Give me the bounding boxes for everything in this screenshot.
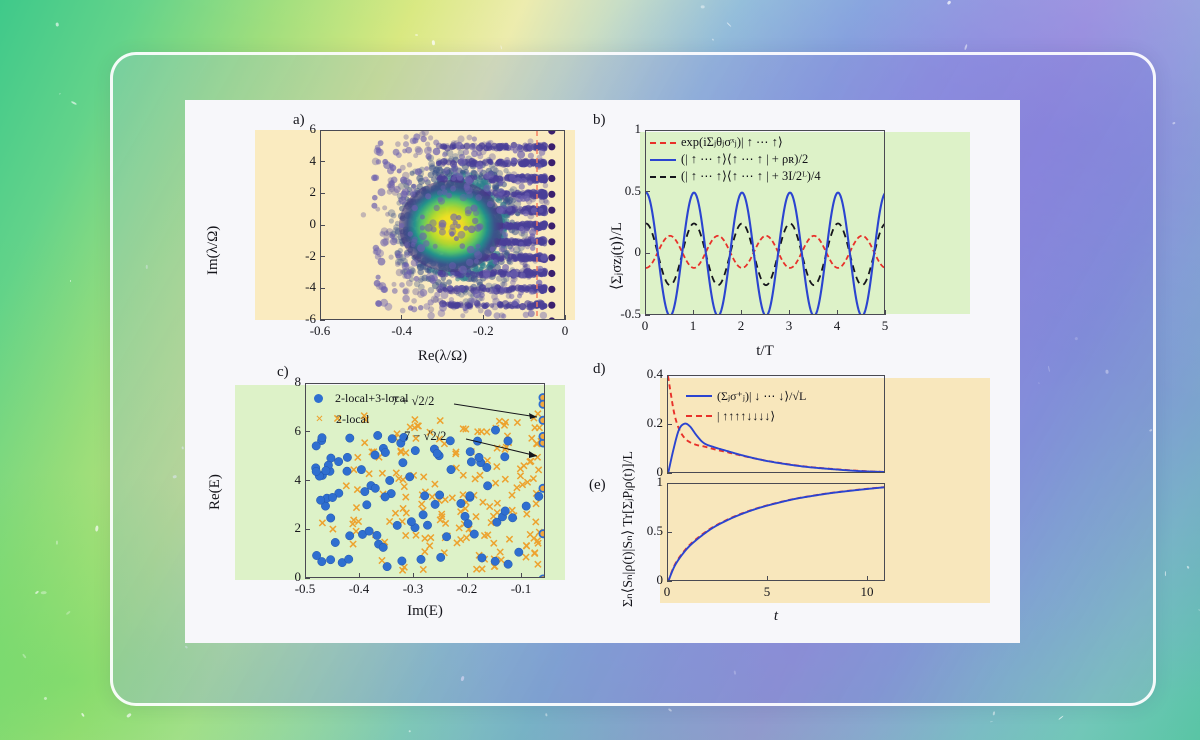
screenshot-root: a) Im(λ/Ω) [0, 0, 1200, 740]
panel-e-lines [668, 484, 884, 580]
tick-mark [320, 288, 325, 289]
tick-mark [305, 578, 310, 579]
y-tick-label: 2 [276, 184, 316, 200]
panel-d-label: d) [593, 361, 606, 378]
speckle [409, 730, 411, 732]
tick-mark [789, 310, 790, 315]
x-tick-label: 10 [843, 584, 891, 600]
tick-mark [767, 576, 768, 581]
panel-c-ylabel: Re(E) [207, 474, 224, 510]
tick-mark [320, 225, 325, 226]
panel-d-plotbox: (Σⱼσ⁺ⱼ)| ↓ ⋯ ↓⟩/√L | ↑↑↑↑↓↓↓↓⟩ [667, 375, 885, 473]
tick-mark [645, 191, 650, 192]
tick-mark [305, 431, 310, 432]
y-tick-label: -6 [276, 311, 316, 327]
panel-b: b) ⟨Σⱼσᴢⱼ(t)⟩/L exp(iΣⱼθⱼσˣⱼ)| ↑ ⋯ ↑⟩ [585, 100, 1020, 350]
panel-c-annotation-1: 7 − √2/2 [404, 429, 446, 444]
tick-mark [645, 130, 650, 131]
y-tick-label: -2 [276, 248, 316, 264]
y-tick-label: -4 [276, 279, 316, 295]
x-tick-label: 1 [669, 318, 717, 334]
panel-e-label: (e) [589, 477, 606, 494]
tick-mark [413, 573, 414, 578]
panel-e-plotbox [667, 483, 885, 581]
tick-mark [693, 310, 694, 315]
speckle [701, 5, 705, 8]
tick-mark [667, 375, 672, 376]
y-tick-label: 0.2 [623, 415, 663, 431]
panel-c-legend-item-1: × 2-local [314, 409, 408, 430]
y-tick-label: 1 [623, 474, 663, 490]
tick-mark [667, 483, 672, 484]
tick-mark [667, 532, 672, 533]
tick-mark [885, 310, 886, 315]
y-tick-label: 0.5 [623, 523, 663, 539]
x-tick-label: 5 [743, 584, 791, 600]
x-tick-label: 2 [717, 318, 765, 334]
tick-mark [667, 581, 672, 582]
y-tick-label: 2 [261, 520, 301, 536]
red-dashed-swatch-d [686, 415, 712, 417]
y-tick-label: 8 [261, 374, 301, 390]
panel-d-legend-item-1: | ↑↑↑↑↓↓↓↓⟩ [686, 406, 806, 426]
tick-mark [320, 320, 325, 321]
y-tick-label: 1 [601, 121, 641, 137]
x-tick-label: -0.4 [335, 581, 383, 597]
y-tick-label: 0 [601, 244, 641, 260]
y-tick-label: -0.5 [601, 306, 641, 322]
tick-mark [359, 573, 360, 578]
speckle [431, 40, 435, 45]
panel-a-scatter [321, 131, 564, 319]
panel-b-legend-item-0: exp(iΣⱼθⱼσˣⱼ)| ↑ ⋯ ↑⟩ [650, 134, 821, 151]
panel-c-annotation-0: 7 + √2/2 [392, 394, 434, 409]
tick-mark [305, 480, 310, 481]
x-tick-label: -0.4 [378, 323, 426, 339]
panel-a-plotbox [320, 130, 565, 320]
tick-mark [305, 529, 310, 530]
x-tick-label: 3 [765, 318, 813, 334]
panel-d-legend: (Σⱼσ⁺ⱼ)| ↓ ⋯ ↓⟩/√L | ↑↑↑↑↓↓↓↓⟩ [686, 386, 806, 426]
panel-c-xlabel: Im(E) [305, 603, 545, 620]
panel-b-plotbox: exp(iΣⱼθⱼσˣⱼ)| ↑ ⋯ ↑⟩ (| ↑ ⋯ ↑⟩⟨↑ ⋯ ↑ | … [645, 130, 885, 315]
tick-mark [320, 130, 325, 131]
tick-mark [401, 315, 402, 320]
x-tick-label: 0 [541, 323, 589, 339]
y-tick-label: 0 [276, 216, 316, 232]
tick-mark [667, 424, 672, 425]
tick-mark [320, 161, 325, 162]
y-tick-label: 6 [261, 423, 301, 439]
black-dashed-swatch [650, 176, 676, 178]
panel-c-legend-label-1: 2-local [336, 411, 369, 427]
x-tick-label: 0 [643, 584, 691, 600]
tick-mark [645, 315, 650, 316]
orange-x-marker: × [314, 413, 325, 427]
panel-e-xlabel: t [667, 608, 885, 625]
y-tick-label: 0.4 [623, 366, 663, 382]
panel-b-legend-label-1: (| ↑ ⋯ ↑⟩⟨↑ ⋯ ↑ | + ρʀ)/2 [681, 151, 808, 168]
x-tick-label: -0.3 [389, 581, 437, 597]
panel-a: a) Im(λ/Ω) [185, 100, 585, 350]
blue-solid-swatch-d [686, 395, 712, 397]
panel-b-legend: exp(iΣⱼθⱼσˣⱼ)| ↑ ⋯ ↑⟩ (| ↑ ⋯ ↑⟩⟨↑ ⋯ ↑ | … [650, 134, 821, 185]
tick-mark [305, 383, 310, 384]
blue-circle-marker [314, 394, 323, 403]
tick-mark [320, 256, 325, 257]
panel-b-legend-label-2: (| ↑ ⋯ ↑⟩⟨↑ ⋯ ↑ | + 3I/2ᴸ)/4 [681, 168, 821, 185]
tick-mark [565, 315, 566, 320]
x-tick-label: 5 [861, 318, 909, 334]
tick-mark [521, 573, 522, 578]
panel-b-legend-item-2: (| ↑ ⋯ ↑⟩⟨↑ ⋯ ↑ | + 3I/2ᴸ)/4 [650, 168, 821, 185]
tick-mark [837, 310, 838, 315]
speckle [415, 34, 418, 36]
panel-c: c) Re(E) [185, 355, 585, 640]
x-tick-label: 4 [813, 318, 861, 334]
tick-mark [483, 315, 484, 320]
blue-solid-swatch [650, 159, 676, 161]
panel-d-legend-label-1: | ↑↑↑↑↓↓↓↓⟩ [717, 408, 775, 424]
panel-b-legend-label-0: exp(iΣⱼθⱼσˣⱼ)| ↑ ⋯ ↑⟩ [681, 134, 783, 151]
tick-mark [667, 576, 668, 581]
speckle [1165, 571, 1166, 576]
panel-a-ylabel: Im(λ/Ω) [205, 226, 222, 275]
panel-d-legend-label-0: (Σⱼσ⁺ⱼ)| ↓ ⋯ ↓⟩/√L [717, 388, 806, 404]
panel-d-legend-item-0: (Σⱼσ⁺ⱼ)| ↓ ⋯ ↓⟩/√L [686, 386, 806, 406]
x-tick-label: -0.1 [497, 581, 545, 597]
tick-mark [320, 193, 325, 194]
tick-mark [667, 473, 672, 474]
tick-mark [741, 310, 742, 315]
x-tick-label: -0.2 [459, 323, 507, 339]
figure-sheet: a) Im(λ/Ω) [185, 100, 1020, 643]
y-tick-label: 0.5 [601, 183, 641, 199]
y-tick-label: 4 [261, 472, 301, 488]
x-tick-label: -0.2 [443, 581, 491, 597]
y-tick-label: 6 [276, 121, 316, 137]
panel-c-plotbox: 2-local+3-local × 2-local 7 + √2/2 7 − √… [305, 383, 545, 578]
tick-mark [467, 573, 468, 578]
panel-b-legend-item-1: (| ↑ ⋯ ↑⟩⟨↑ ⋯ ↑ | + ρʀ)/2 [650, 151, 821, 168]
speckle [712, 39, 714, 41]
y-tick-label: 0 [261, 569, 301, 585]
tick-mark [645, 253, 650, 254]
panel-de: d) (e) Σₙ⟨Sₙ|ρ(t)|Sₙ⟩ Tr[ΣⱼPⱼρ(t)]/L (Σⱼ… [585, 355, 1020, 640]
red-dashdot-swatch [650, 142, 676, 144]
y-tick-label: 4 [276, 153, 316, 169]
tick-mark [867, 576, 868, 581]
